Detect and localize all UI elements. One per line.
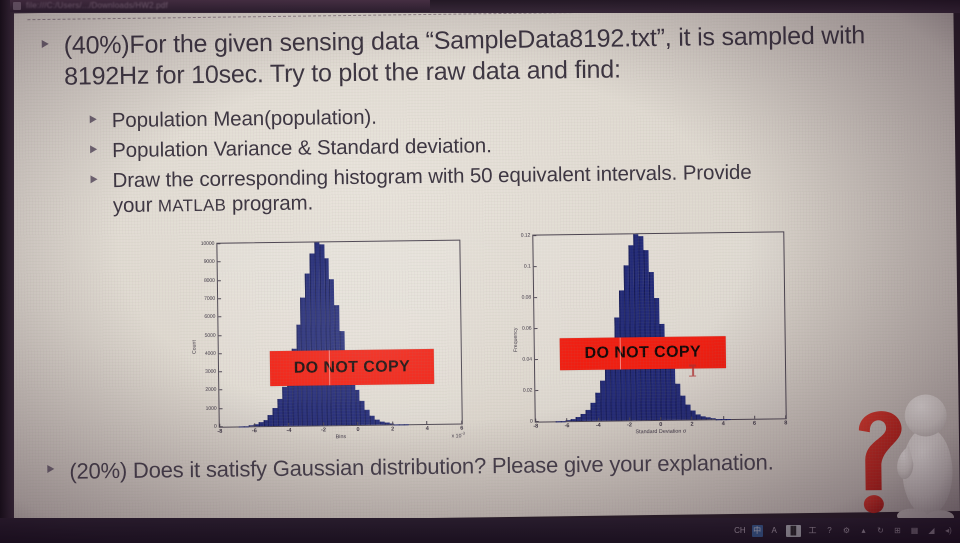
sub-bullet-list: Population Mean(population). Population … xyxy=(112,98,913,224)
y-axis-tick-mark xyxy=(219,390,222,391)
y-axis-tick-mark xyxy=(218,261,221,262)
y-axis-tick-label: 0.06 xyxy=(522,326,532,332)
watermark-seam xyxy=(619,337,620,369)
y-axis-label-count: Count xyxy=(192,340,198,354)
presentation-slide: (40%)For the given sensing data “SampleD… xyxy=(5,1,960,523)
x-axis-tick-mark xyxy=(461,421,462,424)
sub-bullet-1: Population Mean(population). xyxy=(112,98,912,133)
y-axis-tick-mark xyxy=(535,390,538,391)
show-hidden-icons-icon[interactable]: ▴ xyxy=(858,525,869,537)
figure-count-histogram: Count 0100020003000400050006000700080009… xyxy=(184,236,467,455)
x-axis-tick-label: -2 xyxy=(321,427,326,433)
bullet-triangle-icon xyxy=(47,465,54,473)
watermark-text: DO NOT COPY xyxy=(585,343,702,363)
ime-mode-icon[interactable]: 中 xyxy=(752,525,763,537)
x-axis-tick-label: -8 xyxy=(533,424,538,430)
x-axis-tick-label: 2 xyxy=(391,426,394,432)
sub-bullet-3: Draw the corresponding histogram with 50… xyxy=(112,158,913,219)
bullet-triangle-icon xyxy=(90,115,97,123)
y-axis-label-frequency: Frequency xyxy=(513,328,519,353)
x-axis-tick-mark xyxy=(754,416,755,419)
y-axis-tick-label: 10000 xyxy=(201,241,215,247)
x-axis-tick-mark xyxy=(660,417,661,420)
address-bar[interactable]: file:///C:/Users/.../Downloads/HW2.pdf xyxy=(10,0,430,12)
x-axis-tick-mark xyxy=(598,418,599,421)
sub-bullet-1-text: Population Mean(population). xyxy=(112,106,377,132)
x-axis-tick-label: 8 xyxy=(784,420,787,426)
x-axis-tick-mark xyxy=(219,424,220,427)
x-axis-label-standard-deviation: Standard Deviation σ xyxy=(535,427,787,436)
x-axis-tick-mark xyxy=(566,418,567,421)
last-bullet-text: (20%) Does it satisfy Gaussian distribut… xyxy=(69,449,774,483)
plot-area-frequency: 00.020.040.060.080.10.12-8-6-4-202468 xyxy=(532,231,786,422)
watermark-do-not-copy-left: DO NOT COPY xyxy=(270,349,434,386)
sub-bullet-3-suffix: program. xyxy=(226,191,313,215)
y-axis-tick-mark xyxy=(219,335,222,336)
x-axis-tick-label: 0 xyxy=(659,422,662,428)
main-bullet-text: (40%)For the given sensing data “SampleD… xyxy=(64,21,866,90)
sub-bullet-3-prefix: your xyxy=(113,194,158,218)
sync-icon[interactable]: ↻ xyxy=(875,525,886,537)
y-axis-tick-label: 0.08 xyxy=(522,295,532,301)
x-axis-tick-mark xyxy=(723,416,724,419)
thinking-figure-mascot xyxy=(838,393,960,525)
y-axis-tick-mark xyxy=(534,266,537,267)
x-axis-tick-label: -2 xyxy=(627,422,632,428)
bullet-triangle-icon xyxy=(42,40,49,48)
y-axis-tick-label: 0.12 xyxy=(521,233,531,239)
x-axis-tick-mark xyxy=(785,415,786,418)
address-bar-text: file:///C:/Users/.../Downloads/HW2.pdf xyxy=(10,0,430,12)
x-axis-tick-label: -4 xyxy=(596,423,601,429)
plot-area-count: 0100020003000400050006000700080009000100… xyxy=(216,240,462,428)
watermark-do-not-copy-right: DO NOT COPY xyxy=(560,336,726,370)
y-axis-tick-mark xyxy=(220,408,223,409)
action-center-icon[interactable]: ▦ xyxy=(909,525,920,537)
x-axis-tick-mark xyxy=(629,417,630,420)
system-tray[interactable]: CH中A▐▌工?⚙▴↻⊞▦◢◂) xyxy=(734,518,954,543)
y-axis-tick-label: 2000 xyxy=(205,387,216,393)
y-axis-tick-label: 9000 xyxy=(204,259,215,265)
y-axis-tick-label: 5000 xyxy=(205,332,216,338)
y-axis-tick-label: 0.04 xyxy=(522,357,532,363)
multiplier-text: x 10 xyxy=(452,434,462,440)
page-favicon xyxy=(13,2,21,10)
y-axis-tick-mark xyxy=(218,280,221,281)
watermark-text: DO NOT COPY xyxy=(294,358,411,378)
wifi-icon[interactable]: ◢ xyxy=(926,525,937,537)
x-axis-tick-mark xyxy=(358,422,359,425)
x-axis-tick-mark xyxy=(427,421,428,424)
mascot-head xyxy=(904,394,947,437)
question-mark-icon xyxy=(859,411,903,491)
x-axis-tick-label: -6 xyxy=(565,423,570,429)
y-axis-tick-mark xyxy=(218,298,221,299)
x-axis-tick-mark xyxy=(254,423,255,426)
matlab-wordmark: MATLAB xyxy=(158,196,227,216)
histogram-bars-count xyxy=(217,241,461,427)
y-axis-tick-mark xyxy=(534,297,537,298)
main-bullet: (40%)For the given sensing data “SampleD… xyxy=(64,20,915,93)
x-axis-tick-label: 2 xyxy=(690,422,693,428)
ime-alpha-icon[interactable]: A xyxy=(769,525,780,537)
x-axis-tick-label: 6 xyxy=(753,421,756,427)
x-axis-multiplier-count: x 10-3 xyxy=(452,431,465,440)
ime-toolbox-icon[interactable]: 工 xyxy=(807,525,818,537)
x-axis-tick-mark xyxy=(392,421,393,424)
y-axis-tick-label: 1000 xyxy=(206,405,217,411)
y-axis-tick-mark xyxy=(217,243,220,244)
y-axis-tick-label: 6000 xyxy=(204,314,215,320)
y-axis-tick-label: 0.02 xyxy=(523,388,533,394)
x-axis-tick-label: 4 xyxy=(426,426,429,432)
y-axis-tick-mark xyxy=(533,235,536,236)
windows-taskbar[interactable]: CH中A▐▌工?⚙▴↻⊞▦◢◂) xyxy=(0,518,960,543)
sub-bullet-2-text: Population Variance & Standard deviation… xyxy=(112,134,492,162)
x-axis-tick-label: -8 xyxy=(217,429,222,435)
multiplier-exponent: -3 xyxy=(461,431,465,436)
help-icon[interactable]: ? xyxy=(824,525,835,537)
y-axis-tick-mark xyxy=(535,328,538,329)
y-axis-tick-label: 8000 xyxy=(204,277,215,283)
ime-panel-icon[interactable]: ▐▌ xyxy=(786,525,801,537)
volume-icon[interactable]: ◂) xyxy=(943,525,954,537)
y-axis-tick-mark xyxy=(219,353,222,354)
histogram-bars-frequency xyxy=(533,232,785,421)
y-axis-tick-label: 4000 xyxy=(205,351,216,357)
ime-language-indicator[interactable]: CH xyxy=(734,525,746,537)
y-axis-tick-label: 3000 xyxy=(205,369,216,375)
bullet-triangle-icon xyxy=(90,175,97,183)
settings-icon[interactable]: ⚙ xyxy=(841,525,852,537)
x-axis-tick-label: -6 xyxy=(252,428,257,434)
x-axis-tick-label: -4 xyxy=(286,428,291,434)
question-mark-dot xyxy=(864,495,884,513)
y-axis-tick-mark xyxy=(218,316,221,317)
monitor-bezel-left xyxy=(0,0,14,543)
screenshot-root: (40%)For the given sensing data “SampleD… xyxy=(0,0,960,543)
sub-bullet-2: Population Variance & Standard deviation… xyxy=(112,128,912,163)
text-cursor-artifact xyxy=(689,364,696,376)
y-axis-tick-label: 0.1 xyxy=(524,264,531,270)
y-axis-tick-mark xyxy=(219,371,222,372)
x-axis-tick-mark xyxy=(691,417,692,420)
x-axis-tick-mark xyxy=(535,419,536,422)
x-axis-tick-mark xyxy=(323,422,324,425)
y-axis-tick-mark xyxy=(535,359,538,360)
watermark-seam xyxy=(329,350,330,385)
y-axis-tick-label: 7000 xyxy=(204,296,215,302)
bullet-triangle-icon xyxy=(90,145,97,153)
x-axis-tick-label: 0 xyxy=(357,427,360,433)
network-tiles-icon[interactable]: ⊞ xyxy=(892,525,903,537)
x-axis-tick-label: 4 xyxy=(722,421,725,427)
x-axis-tick-mark xyxy=(288,423,289,426)
